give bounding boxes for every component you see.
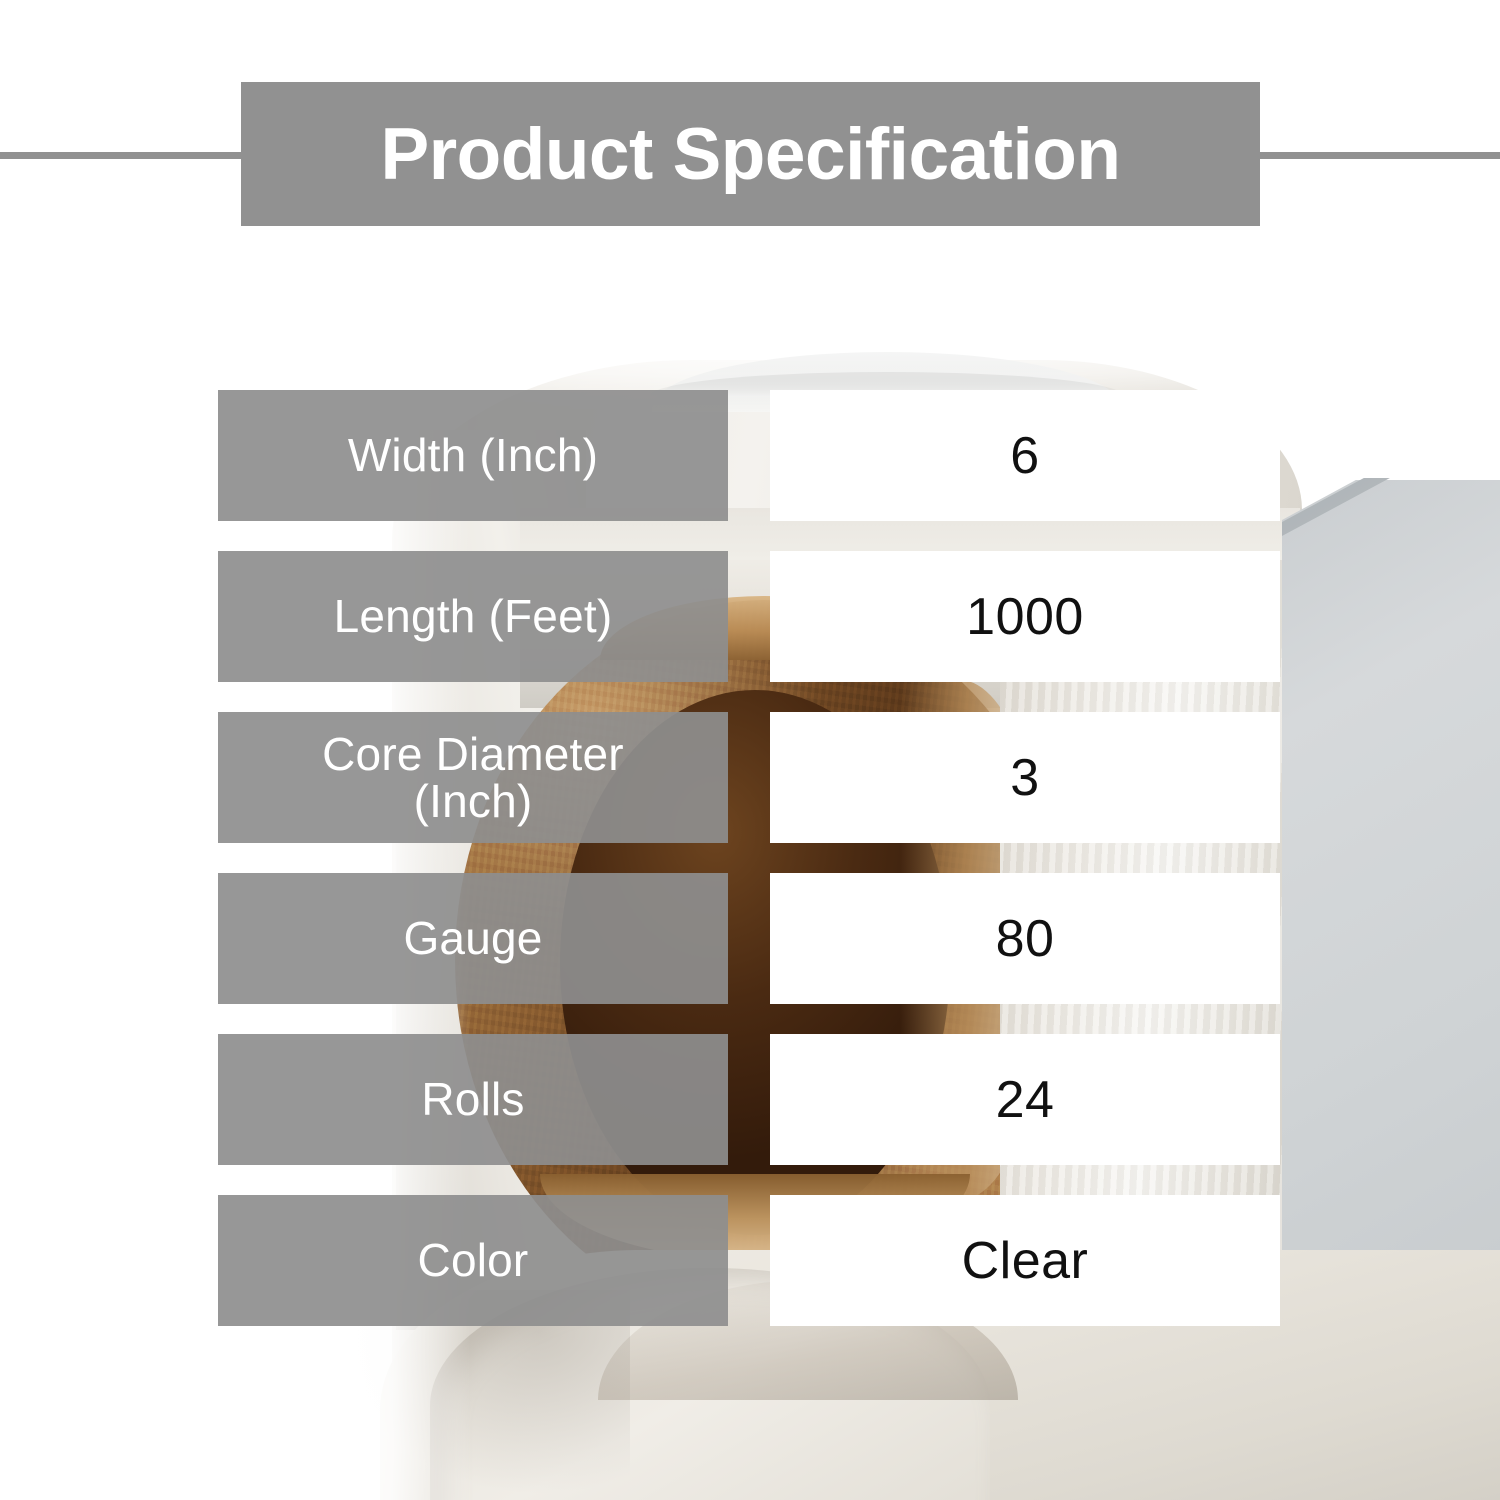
spec-table: Width (Inch) 6 Length (Feet) 1000 Core D… [0, 0, 1500, 1500]
spec-label-core-diameter: Core Diameter (Inch) [218, 712, 728, 843]
spec-value-gauge: 80 [770, 873, 1280, 1004]
spec-label-text: Width (Inch) [338, 432, 608, 479]
spec-value-length: 1000 [770, 551, 1280, 682]
spec-value-text: 6 [1010, 426, 1039, 486]
table-row: Width (Inch) 6 [0, 390, 1500, 521]
spec-label-text: Color [408, 1237, 539, 1284]
spec-value-width: 6 [770, 390, 1280, 521]
table-row: Rolls 24 [0, 1034, 1500, 1165]
spec-label-rolls: Rolls [218, 1034, 728, 1165]
spec-label-color: Color [218, 1195, 728, 1326]
spec-value-rolls: 24 [770, 1034, 1280, 1165]
spec-label-width: Width (Inch) [218, 390, 728, 521]
spec-label-text: Length (Feet) [324, 593, 623, 640]
table-row: Core Diameter (Inch) 3 [0, 712, 1500, 843]
product-specification-infographic: Product Specification Width (Inch) 6 Len… [0, 0, 1500, 1500]
spec-value-text: 1000 [966, 587, 1084, 647]
spec-label-text: Rolls [411, 1076, 534, 1123]
spec-value-core-diameter: 3 [770, 712, 1280, 843]
table-row: Gauge 80 [0, 873, 1500, 1004]
table-row: Length (Feet) 1000 [0, 551, 1500, 682]
spec-value-text: Clear [962, 1231, 1089, 1291]
spec-value-text: 3 [1010, 748, 1039, 808]
spec-value-text: 80 [996, 909, 1055, 969]
spec-label-length: Length (Feet) [218, 551, 728, 682]
table-row: Color Clear [0, 1195, 1500, 1326]
spec-value-text: 24 [996, 1070, 1055, 1130]
spec-label-text: Gauge [393, 915, 552, 962]
spec-label-gauge: Gauge [218, 873, 728, 1004]
spec-label-text: Core Diameter (Inch) [312, 731, 634, 825]
spec-value-color: Clear [770, 1195, 1280, 1326]
